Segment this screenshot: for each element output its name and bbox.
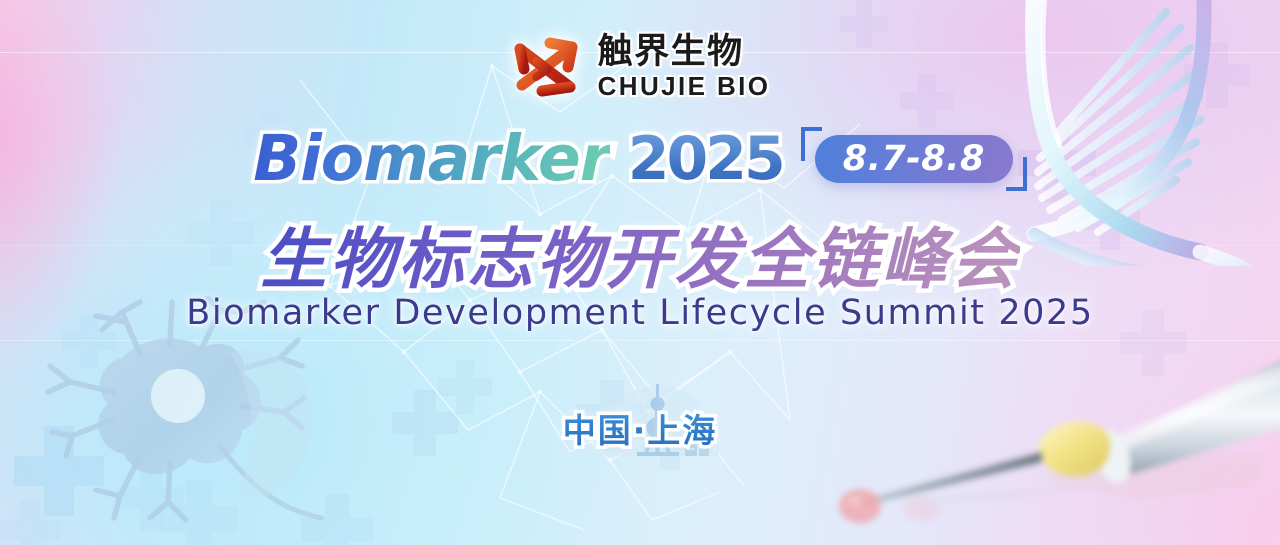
headline-row: Biomarker Biomarker 2025 2025 8.7-8.8: [0, 122, 1280, 195]
date-badge: 8.7-8.8: [801, 135, 1027, 183]
main-title-cn-wrap: 生物标志物开发全链峰会 生物标志物开发全链峰会: [0, 206, 1280, 302]
x-cross-logo-icon: [510, 35, 584, 99]
headline-year-text: 2025: [628, 124, 783, 194]
main-title-cn-text: 生物标志物开发全链峰会: [261, 221, 1020, 298]
main-title-cn: 生物标志物开发全链峰会 生物标志物开发全链峰会: [261, 206, 1020, 302]
corner-bracket-icon-left: [801, 127, 822, 161]
brand-name-en: CHUJIE BIO: [598, 73, 771, 99]
brand-name-cn: 触界生物: [598, 34, 744, 69]
location-text: 中国·上海 中国·上海: [563, 404, 718, 452]
brand-wordmark: 触界生物 CHUJIE BIO: [598, 34, 771, 99]
headline-year: 2025 2025: [628, 124, 783, 194]
location-text-fill: 中国·上海: [563, 411, 718, 450]
date-badge-pill: 8.7-8.8: [815, 135, 1013, 183]
corner-bracket-icon-right: [1006, 157, 1027, 191]
conference-banner: 触界生物 CHUJIE BIO Biomarker Biomarker 2025…: [0, 0, 1280, 545]
brand-lockup: 触界生物 CHUJIE BIO: [0, 34, 1280, 99]
headline-biomarker-text: Biomarker: [253, 122, 610, 195]
headline-biomarker: Biomarker Biomarker: [253, 122, 610, 195]
banner-content: 触界生物 CHUJIE BIO Biomarker Biomarker 2025…: [0, 0, 1280, 545]
date-badge-text: 8.7-8.8: [843, 139, 985, 179]
location-badge: 中国·上海 中国·上海: [0, 382, 1280, 452]
